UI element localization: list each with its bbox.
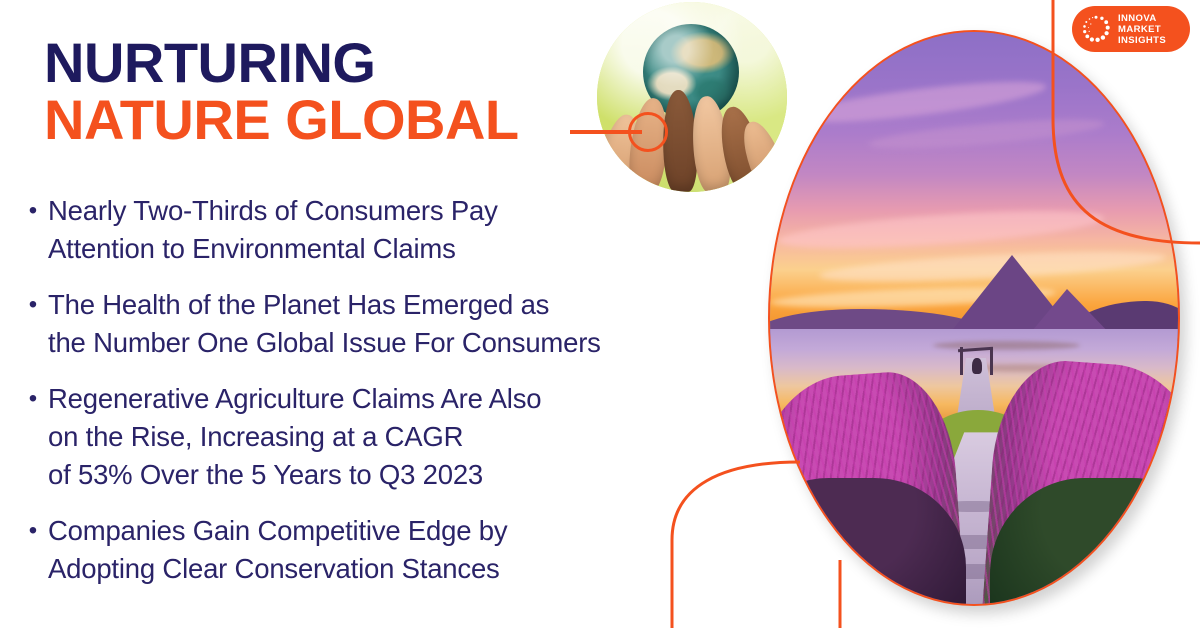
logo-line-3: INSIGHTS <box>1118 35 1166 46</box>
sunset-lake-path-photo <box>768 30 1180 606</box>
bullet-marker-icon: • <box>18 512 48 550</box>
list-item-text: Companies Gain Competitive Edge by Adopt… <box>48 512 778 588</box>
logo-line-2: MARKET <box>1118 24 1166 35</box>
list-item: • Companies Gain Competitive Edge by Ado… <box>18 512 778 588</box>
logo-wordmark: INNOVA MARKET INSIGHTS <box>1118 13 1166 46</box>
person-silhouette <box>972 358 982 374</box>
list-item: • Nearly Two-Thirds of Consumers Pay Att… <box>18 192 778 268</box>
list-item-line: on the Rise, Increasing at a CAGR <box>48 418 778 456</box>
list-item-line: Adopting Clear Conservation Stances <box>48 550 778 588</box>
list-item-line: Regenerative Agriculture Claims Are Also <box>48 380 778 418</box>
list-item-line: The Health of the Planet Has Emerged as <box>48 286 778 324</box>
list-item-line: Companies Gain Competitive Edge by <box>48 512 778 550</box>
bullet-marker-icon: • <box>18 380 48 418</box>
list-item-text: The Health of the Planet Has Emerged as … <box>48 286 778 362</box>
headline-line-1: NURTURING <box>44 34 664 91</box>
list-item-line: of 53% Over the 5 Years to Q3 2023 <box>48 456 778 494</box>
list-item-line: Attention to Environmental Claims <box>48 230 778 268</box>
bullet-marker-icon: • <box>18 192 48 230</box>
innova-market-insights-logo[interactable]: INNOVA MARKET INSIGHTS <box>1072 6 1190 52</box>
headline-line-2: NATURE GLOBAL <box>44 91 664 148</box>
list-item: • The Health of the Planet Has Emerged a… <box>18 286 778 362</box>
dock-post <box>990 347 993 376</box>
water-reflection <box>933 341 1080 350</box>
list-item-line: Nearly Two-Thirds of Consumers Pay <box>48 192 778 230</box>
bullet-marker-icon: • <box>18 286 48 324</box>
list-item-text: Nearly Two-Thirds of Consumers Pay Atten… <box>48 192 778 268</box>
orange-circle-accent <box>628 112 668 152</box>
logo-line-1: INNOVA <box>1118 13 1166 24</box>
list-item-text: Regenerative Agriculture Claims Are Also… <box>48 380 778 494</box>
list-item-line: the Number One Global Issue For Consumer… <box>48 324 778 362</box>
list-item: • Regenerative Agriculture Claims Are Al… <box>18 380 778 494</box>
dotted-circle-icon <box>1080 13 1112 45</box>
hands-holding-globe-photo <box>597 2 787 192</box>
promo-banner: NURTURING NATURE GLOBAL • Nearly Two-Thi… <box>0 0 1200 628</box>
key-findings-list: • Nearly Two-Thirds of Consumers Pay Att… <box>18 192 778 588</box>
